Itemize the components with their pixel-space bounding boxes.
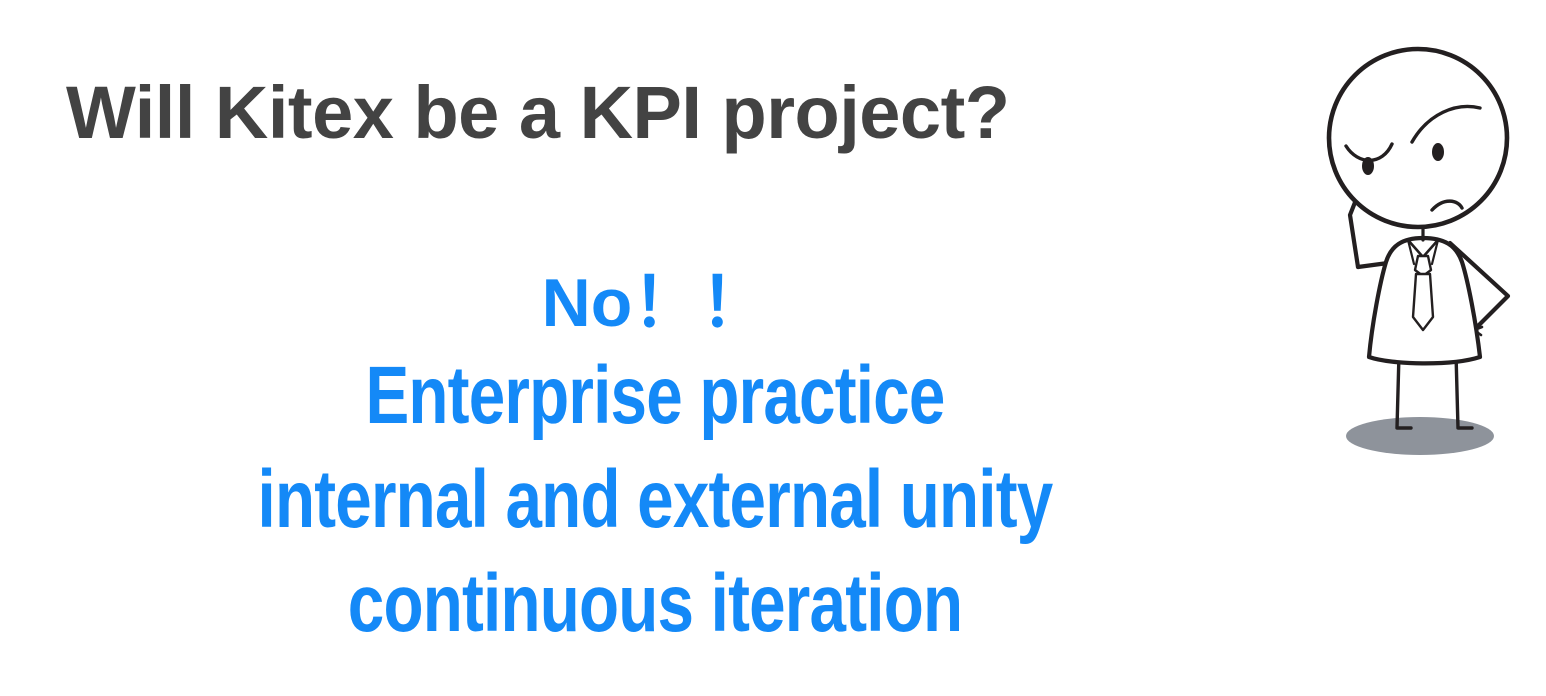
head <box>1329 49 1507 227</box>
tie-body <box>1413 274 1433 330</box>
page-title: Will Kitex be a KPI project? <box>66 70 1246 156</box>
right-pupil <box>1432 143 1444 161</box>
message-line-enterprise-practice: Enterprise practice <box>131 344 1179 448</box>
left-pupil <box>1362 157 1374 175</box>
message-line-no: No！！ <box>0 262 1310 344</box>
message-block: No！！ Enterprise practice internal and ex… <box>0 262 1310 656</box>
right-leg <box>1456 354 1472 428</box>
shadow-ellipse <box>1346 417 1494 455</box>
message-line-internal-external-unity: internal and external unity <box>131 448 1179 552</box>
doubtful-businessman-svg <box>1292 24 1546 474</box>
message-line-continuous-iteration: continuous iteration <box>131 552 1179 656</box>
slide-canvas: Will Kitex be a KPI project? No！！ Enterp… <box>0 0 1546 696</box>
doubtful-businessman-illustration <box>1292 24 1546 474</box>
